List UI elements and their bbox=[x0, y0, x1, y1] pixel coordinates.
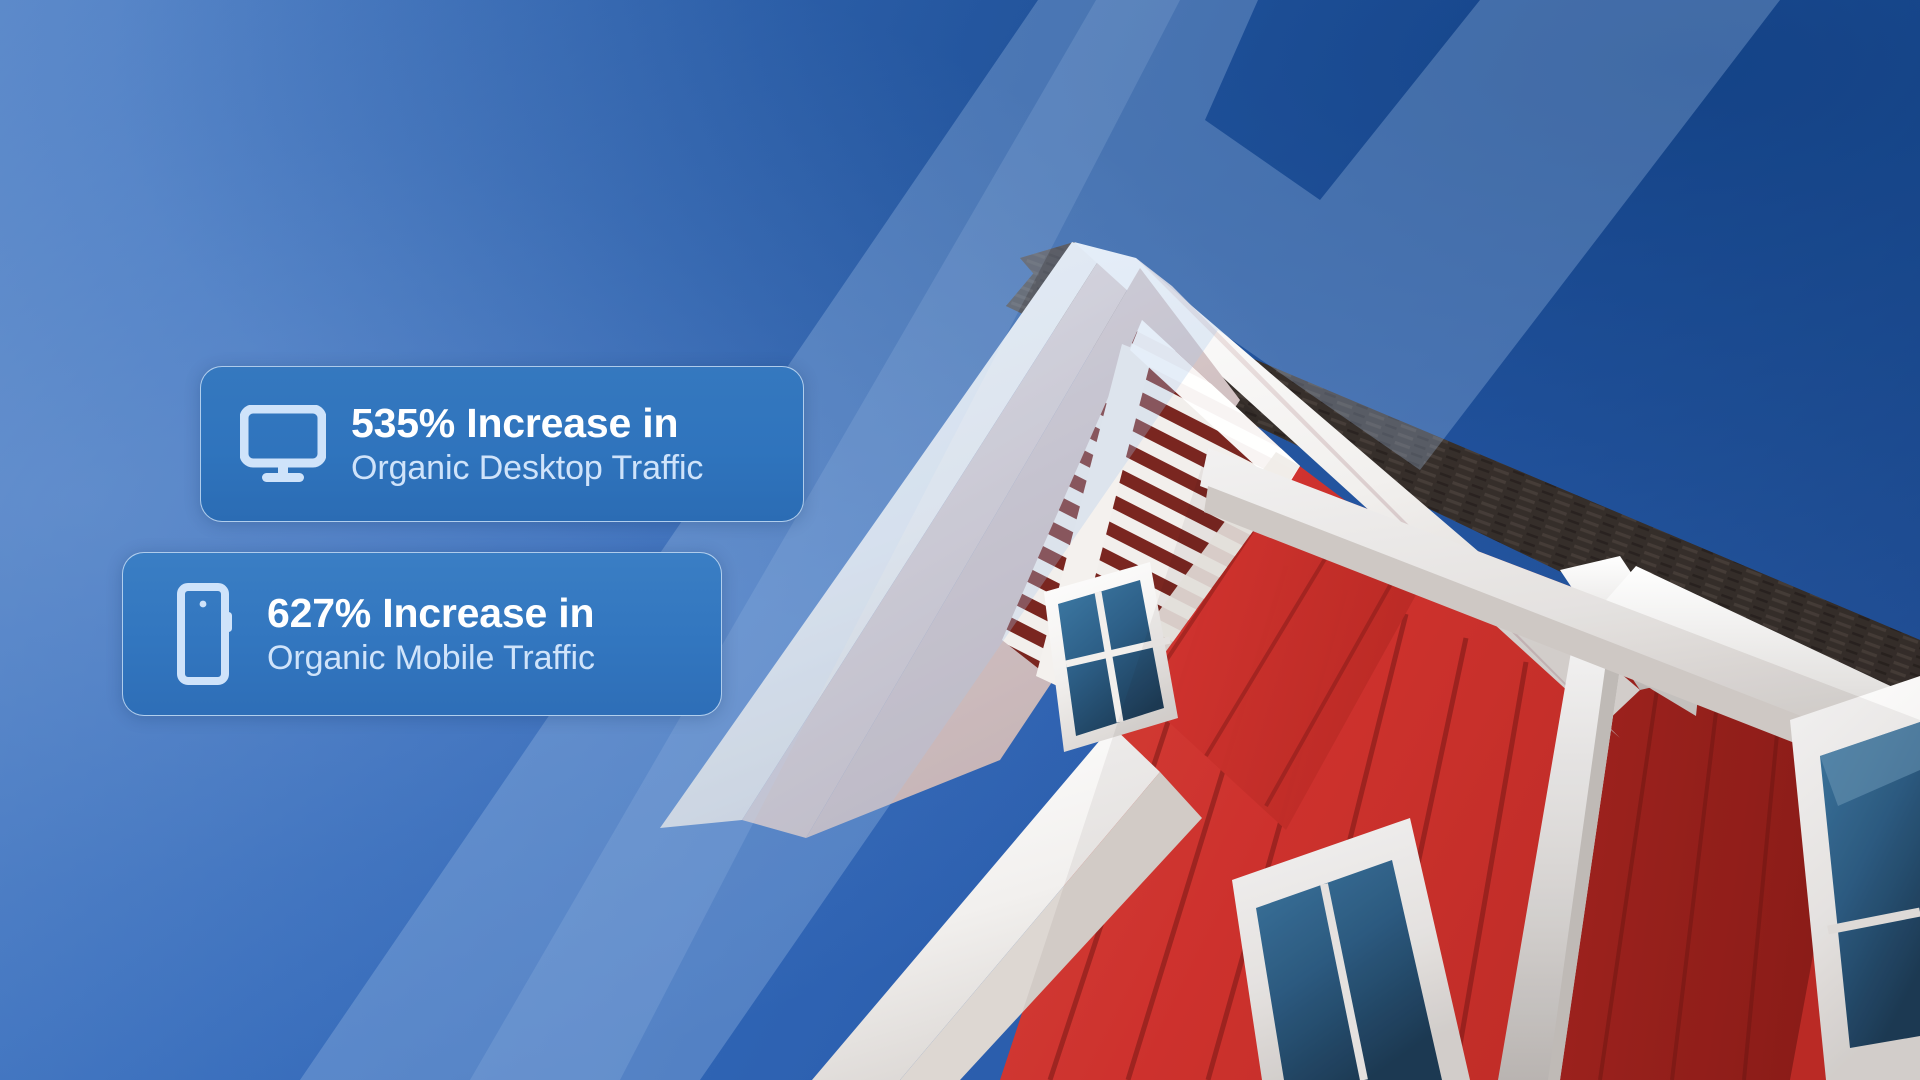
mobile-badge-text: 627% Increase in Organic Mobile Traffic bbox=[259, 592, 595, 676]
mobile-headline: 627% Increase in bbox=[267, 592, 594, 635]
stat-badge-desktop[interactable]: 535% Increase in Organic Desktop Traffic bbox=[200, 366, 804, 522]
desktop-badge-text: 535% Increase in Organic Desktop Traffic bbox=[351, 402, 703, 486]
stat-badge-group: 535% Increase in Organic Desktop Traffic… bbox=[0, 0, 1920, 1080]
mobile-phone-icon bbox=[157, 582, 249, 686]
stat-badge-mobile[interactable]: 627% Increase in Organic Mobile Traffic bbox=[122, 552, 722, 716]
desktop-subtext: Organic Desktop Traffic bbox=[351, 451, 703, 486]
desktop-monitor-icon bbox=[235, 405, 331, 483]
results-graphic-canvas: 535% Increase in Organic Desktop Traffic… bbox=[0, 0, 1920, 1080]
mobile-subtext: Organic Mobile Traffic bbox=[267, 641, 595, 676]
desktop-headline: 535% Increase in bbox=[351, 402, 678, 445]
